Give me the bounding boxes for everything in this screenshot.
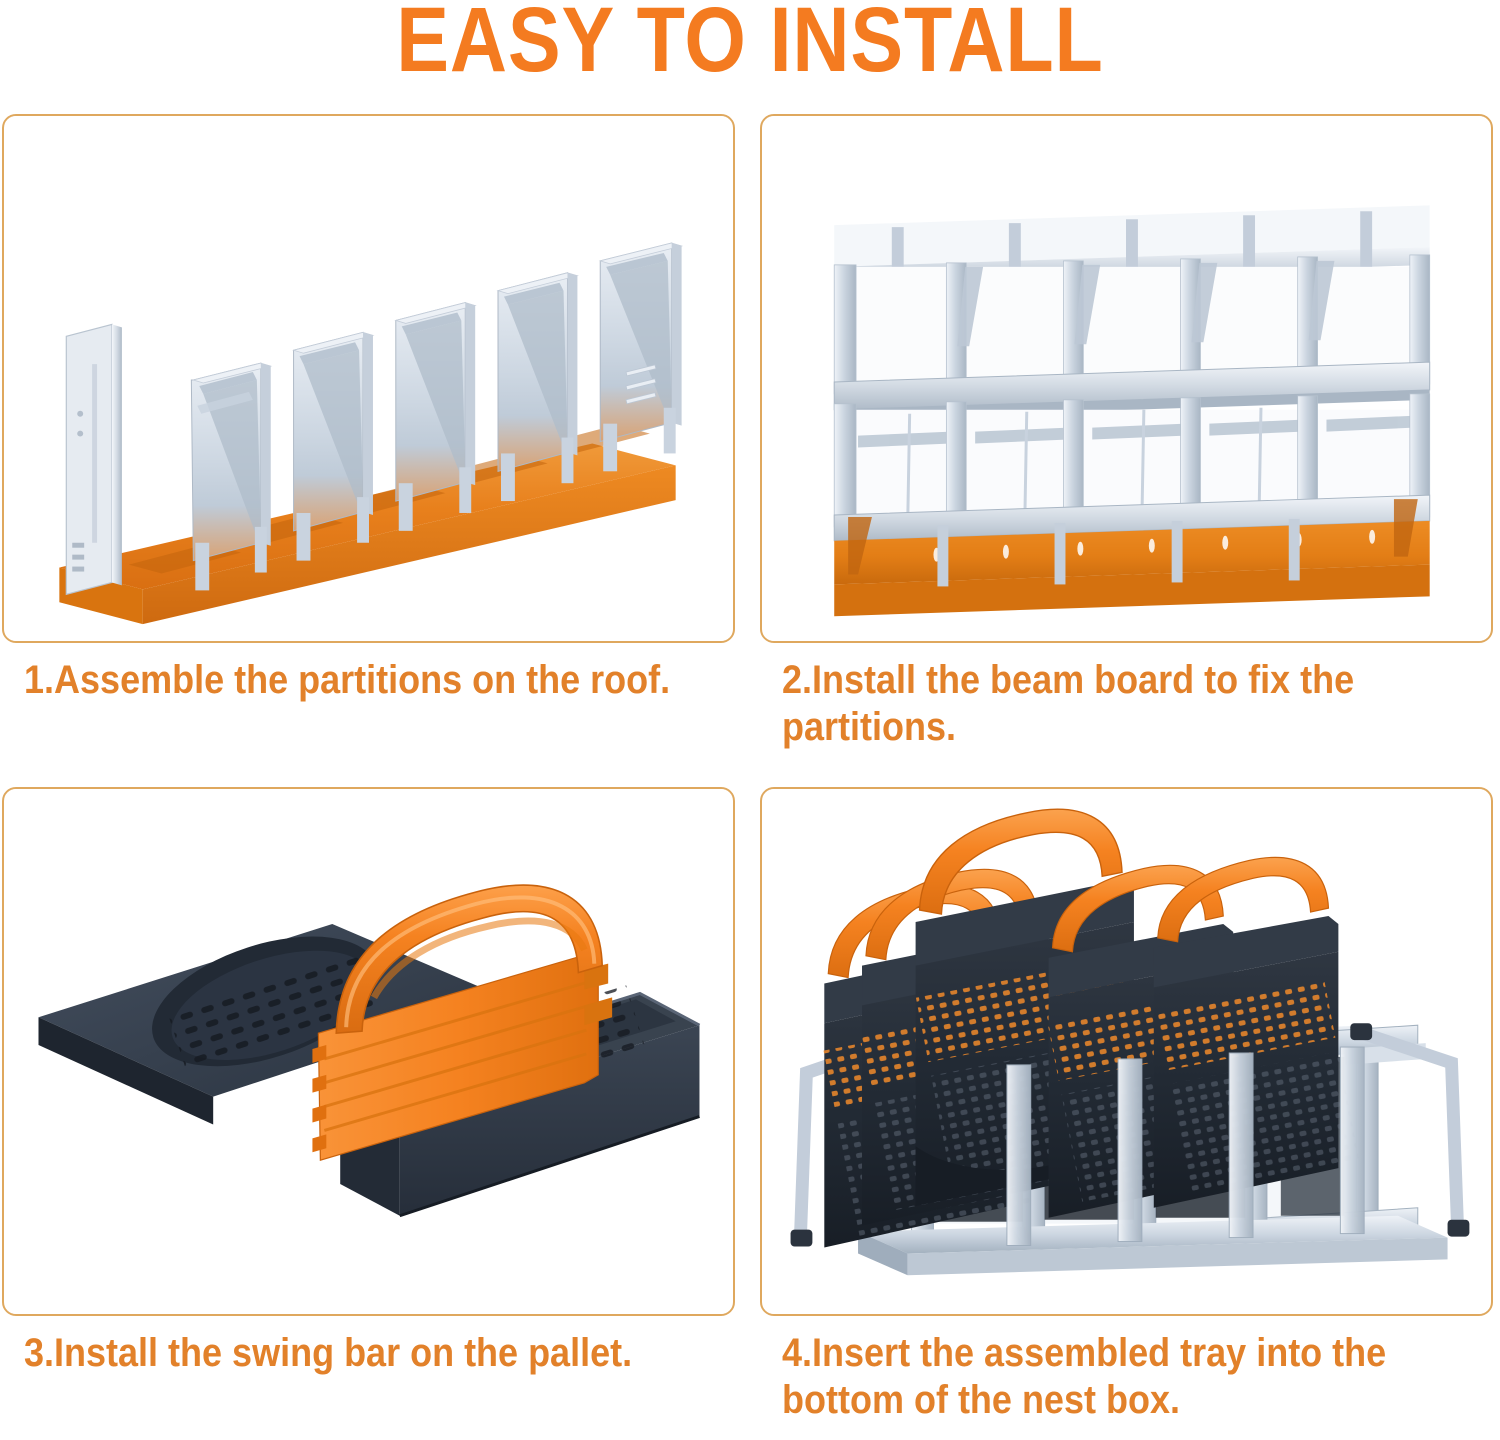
insert-tray-nest-box-photo (760, 787, 1493, 1316)
step-caption: 1.Assemble the partitions on the roof. (24, 657, 735, 704)
install-step-2: 2.Install the beam board to fix the part… (760, 114, 1494, 764)
install-step-3: 3.Install the swing bar on the pallet. (2, 787, 736, 1437)
swing-bar-pallet-photo (2, 787, 735, 1316)
install-step-4: 4.Insert the assembled tray into the bot… (760, 787, 1494, 1437)
step-caption: 2.Install the beam board to fix the part… (782, 657, 1500, 751)
install-step-1: 1.Assemble the partitions on the roof. (2, 114, 736, 764)
step-caption: 3.Install the swing bar on the pallet. (24, 1330, 735, 1377)
step-caption: 4.Insert the assembled tray into the bot… (782, 1330, 1500, 1424)
beam-board-frame-photo (760, 114, 1493, 643)
partitions-on-roof-photo (2, 114, 735, 643)
page-title: EASY TO INSTALL (105, 0, 1395, 88)
easy-to-install-infographic: EASY TO INSTALL (0, 0, 1500, 1440)
